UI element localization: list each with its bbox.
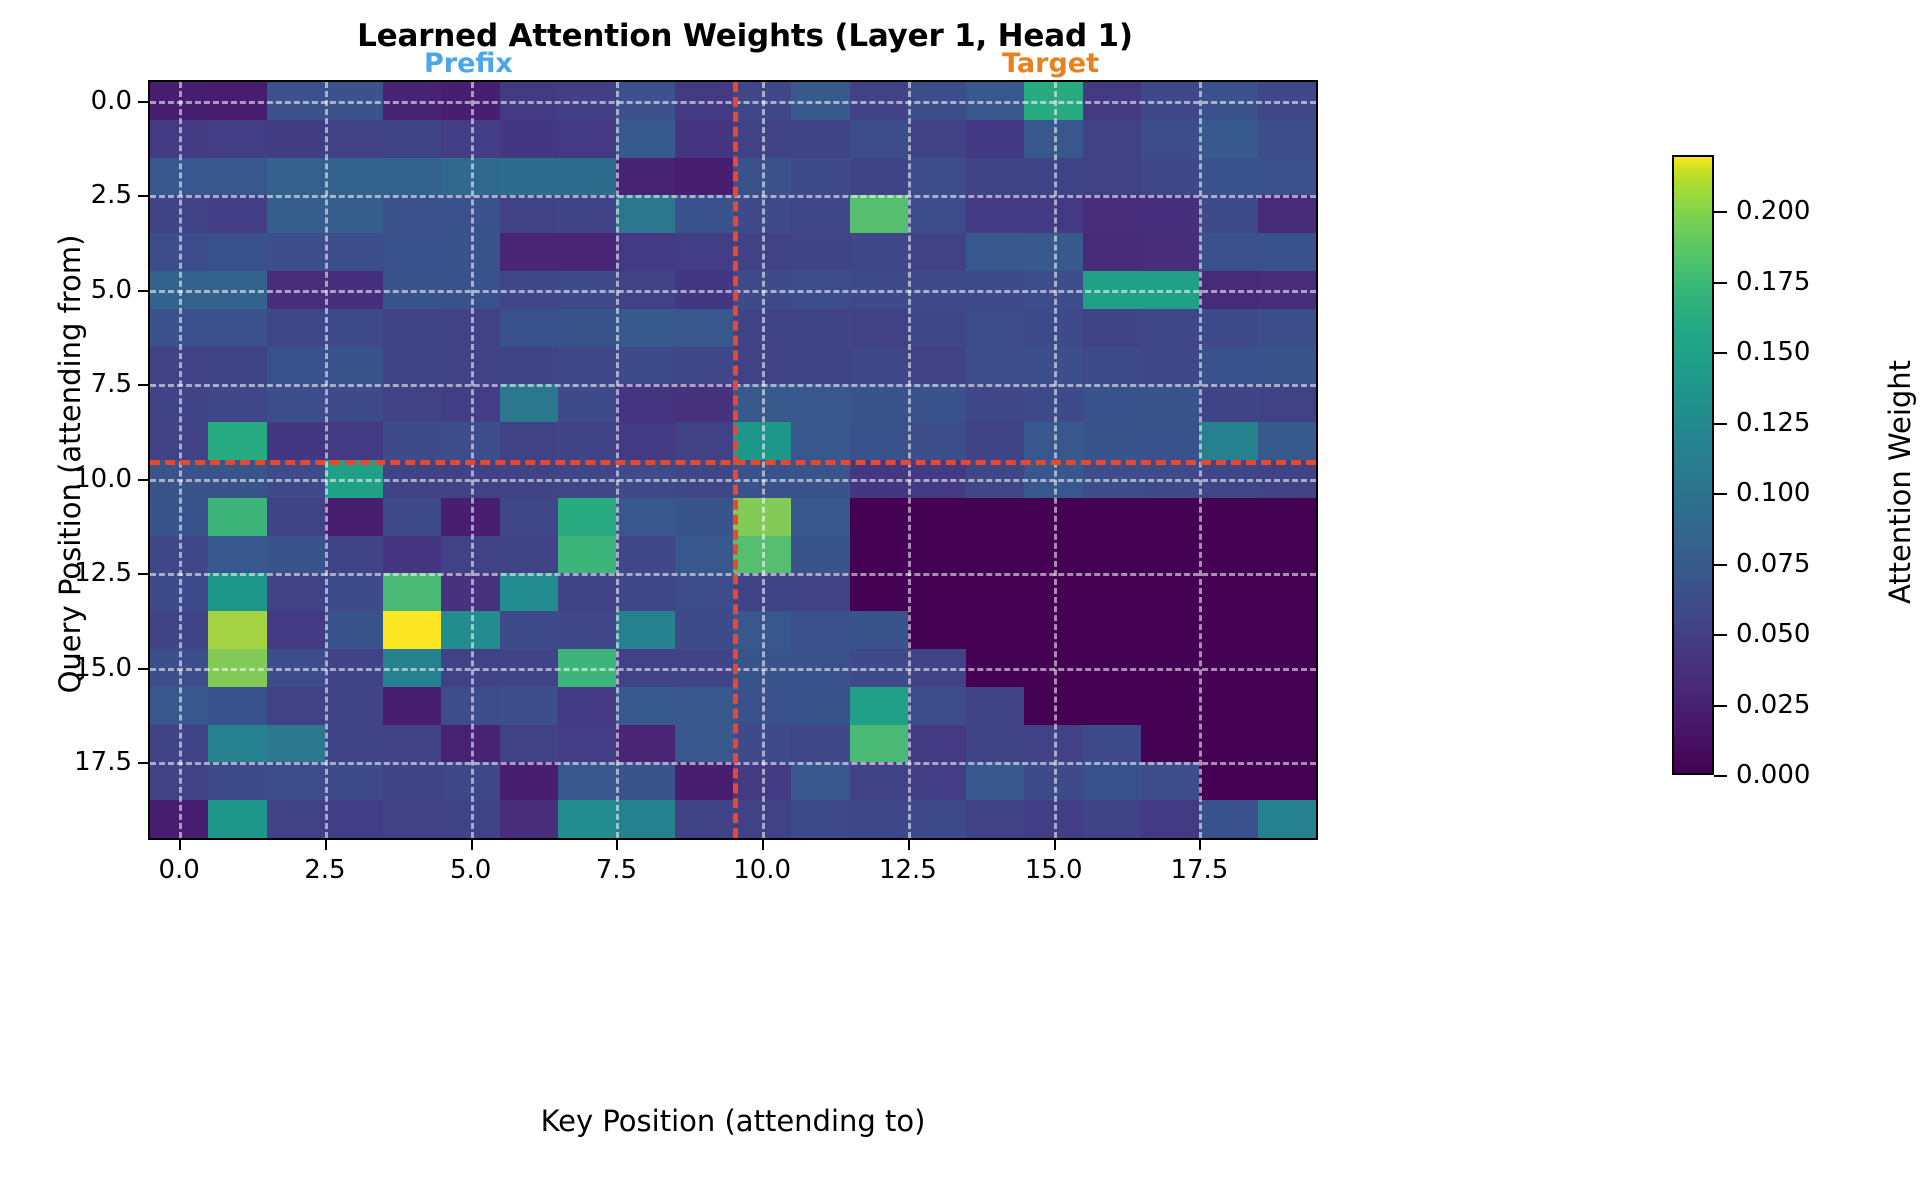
heatmap-cell <box>616 460 674 498</box>
heatmap-cell <box>850 460 908 498</box>
heatmap-cell <box>1199 762 1257 800</box>
heatmap-cell <box>500 422 558 460</box>
heatmap-cell <box>150 384 208 422</box>
heatmap-cell <box>1083 611 1141 649</box>
heatmap-cell <box>850 800 908 838</box>
heatmap-cell <box>616 195 674 233</box>
heatmap-cell <box>441 309 499 347</box>
heatmap-cell <box>616 611 674 649</box>
heatmap-cell <box>267 725 325 763</box>
heatmap-cell <box>850 309 908 347</box>
heatmap-cell <box>1258 611 1316 649</box>
heatmap-cell <box>733 422 791 460</box>
heatmap-cell <box>558 309 616 347</box>
heatmap-cell <box>966 384 1024 422</box>
heatmap-cell <box>733 536 791 574</box>
heatmap-cell <box>1024 687 1082 725</box>
heatmap-cell <box>616 649 674 687</box>
colorbar-tick-label: 0.200 <box>1736 196 1810 226</box>
heatmap-cell <box>1083 460 1141 498</box>
heatmap-cell <box>1083 498 1141 536</box>
heatmap-cell <box>1083 649 1141 687</box>
heatmap-cell <box>150 120 208 158</box>
heatmap-cell <box>150 158 208 196</box>
heatmap-cell <box>850 347 908 385</box>
x-tick-label: 2.5 <box>304 855 345 885</box>
colorbar-tick-mark <box>1714 352 1727 354</box>
heatmap-cell <box>908 498 966 536</box>
heatmap-cell <box>150 309 208 347</box>
heatmap-cell <box>616 120 674 158</box>
target-region-label: Target <box>1002 48 1099 79</box>
heatmap-cell <box>150 611 208 649</box>
heatmap-cell <box>208 725 266 763</box>
heatmap-cell <box>791 347 849 385</box>
heatmap-cell <box>500 762 558 800</box>
heatmap-cell <box>1141 536 1199 574</box>
heatmap-cell <box>616 762 674 800</box>
heatmap-cell <box>1258 573 1316 611</box>
heatmap-cell <box>966 158 1024 196</box>
heatmap-cell <box>675 762 733 800</box>
heatmap-cell <box>441 120 499 158</box>
heatmap-cell <box>267 309 325 347</box>
heatmap-cell <box>733 725 791 763</box>
heatmap-cell <box>267 498 325 536</box>
heatmap-cell <box>558 649 616 687</box>
heatmap-cell <box>908 800 966 838</box>
heatmap-cell <box>675 309 733 347</box>
heatmap-cell <box>1199 460 1257 498</box>
heatmap-cell <box>267 271 325 309</box>
x-tick-label: 12.5 <box>879 855 937 885</box>
y-tick-mark <box>138 290 148 292</box>
y-tick-mark <box>138 101 148 103</box>
heatmap-cell <box>733 158 791 196</box>
heatmap-cell <box>850 384 908 422</box>
heatmap-cell <box>1024 762 1082 800</box>
heatmap-cell <box>383 687 441 725</box>
heatmap-cell <box>791 271 849 309</box>
heatmap-cell <box>500 158 558 196</box>
heatmap-cell <box>791 611 849 649</box>
heatmap-cell <box>150 536 208 574</box>
heatmap-cell <box>150 422 208 460</box>
heatmap-cell <box>208 309 266 347</box>
heatmap-cell <box>441 82 499 120</box>
heatmap-cell <box>150 460 208 498</box>
heatmap-cell <box>1024 800 1082 838</box>
heatmap-cell <box>1199 347 1257 385</box>
heatmap-cell <box>1199 158 1257 196</box>
heatmap-cell <box>500 649 558 687</box>
heatmap-cell <box>558 498 616 536</box>
heatmap-cell <box>1024 725 1082 763</box>
heatmap-cell <box>500 347 558 385</box>
heatmap-cell <box>1141 384 1199 422</box>
heatmap-cell <box>441 384 499 422</box>
heatmap-cell <box>1199 120 1257 158</box>
heatmap-cell <box>966 800 1024 838</box>
heatmap-cell <box>208 800 266 838</box>
heatmap-cell <box>733 347 791 385</box>
heatmap-cell <box>1141 271 1199 309</box>
heatmap-cell <box>558 271 616 309</box>
colorbar-tick-label: 0.175 <box>1736 267 1810 297</box>
heatmap-cell <box>325 347 383 385</box>
heatmap-cell <box>850 573 908 611</box>
heatmap-cell <box>441 762 499 800</box>
heatmap-cell <box>675 422 733 460</box>
heatmap-cell <box>325 762 383 800</box>
heatmap-cell <box>1199 800 1257 838</box>
heatmap-cell <box>441 649 499 687</box>
heatmap-cell <box>208 384 266 422</box>
heatmap-cell <box>791 573 849 611</box>
heatmap-cell <box>208 158 266 196</box>
heatmap-cell <box>675 498 733 536</box>
heatmap-cell <box>850 195 908 233</box>
heatmap-cell <box>267 687 325 725</box>
heatmap-cell <box>267 233 325 271</box>
heatmap-cell <box>441 687 499 725</box>
heatmap-cell <box>791 498 849 536</box>
heatmap-cell <box>908 309 966 347</box>
heatmap-cell <box>1083 271 1141 309</box>
heatmap-cell <box>1258 158 1316 196</box>
heatmap-cell <box>1258 800 1316 838</box>
heatmap-cell <box>208 82 266 120</box>
heatmap-cell <box>383 195 441 233</box>
heatmap-cell <box>558 233 616 271</box>
heatmap-cell <box>208 649 266 687</box>
heatmap-cell <box>325 611 383 649</box>
heatmap-cell <box>1083 800 1141 838</box>
heatmap-cell <box>1141 158 1199 196</box>
heatmap-cell <box>908 347 966 385</box>
heatmap-cell <box>441 347 499 385</box>
heatmap-cell <box>1141 195 1199 233</box>
heatmap-cell <box>1258 725 1316 763</box>
heatmap-cell <box>208 460 266 498</box>
heatmap-cell <box>558 573 616 611</box>
heatmap-cell <box>616 725 674 763</box>
heatmap-cell <box>616 498 674 536</box>
heatmap-cell <box>1083 233 1141 271</box>
heatmap-cell <box>1083 573 1141 611</box>
y-tick-label: 7.5 <box>91 369 132 399</box>
heatmap-cell <box>733 687 791 725</box>
colorbar-tick-mark <box>1714 423 1727 425</box>
heatmap-cell <box>850 611 908 649</box>
heatmap-cell <box>500 498 558 536</box>
heatmap-cell <box>791 800 849 838</box>
heatmap-cell <box>150 498 208 536</box>
heatmap-cell <box>675 384 733 422</box>
heatmap-cell <box>1141 233 1199 271</box>
heatmap-cell <box>1083 158 1141 196</box>
heatmap-cell <box>966 573 1024 611</box>
heatmap-cell <box>150 762 208 800</box>
heatmap-cell <box>500 460 558 498</box>
heatmap-cell <box>441 800 499 838</box>
heatmap-cell <box>850 422 908 460</box>
heatmap-cell <box>383 460 441 498</box>
heatmap-cell <box>1258 120 1316 158</box>
heatmap-cell <box>558 611 616 649</box>
heatmap-cell <box>1083 120 1141 158</box>
heatmap-cell <box>966 460 1024 498</box>
heatmap-cell <box>675 120 733 158</box>
heatmap-cell <box>733 460 791 498</box>
heatmap-cell <box>441 498 499 536</box>
heatmap-cell <box>1199 536 1257 574</box>
heatmap-cell <box>1024 195 1082 233</box>
heatmap-cell <box>500 687 558 725</box>
heatmap-cell <box>1141 460 1199 498</box>
heatmap-cell <box>558 120 616 158</box>
heatmap-cell <box>1083 195 1141 233</box>
heatmap-cell <box>208 536 266 574</box>
heatmap-cell <box>908 649 966 687</box>
heatmap-cell <box>908 611 966 649</box>
heatmap-cell <box>733 762 791 800</box>
x-tick-mark <box>471 840 473 850</box>
heatmap-cell <box>1258 347 1316 385</box>
heatmap-cell <box>908 384 966 422</box>
heatmap-cell <box>908 120 966 158</box>
heatmap-cells <box>150 82 1316 838</box>
heatmap-cell <box>441 271 499 309</box>
heatmap-cell <box>267 422 325 460</box>
heatmap-cell <box>383 347 441 385</box>
heatmap-cell <box>675 536 733 574</box>
heatmap-cell <box>733 82 791 120</box>
heatmap-cell <box>791 195 849 233</box>
heatmap-cell <box>1258 82 1316 120</box>
heatmap-cell <box>325 800 383 838</box>
heatmap-cell <box>1258 384 1316 422</box>
heatmap-cell <box>1199 649 1257 687</box>
heatmap-cell <box>1024 233 1082 271</box>
heatmap-cell <box>1083 536 1141 574</box>
y-tick-label: 2.5 <box>91 180 132 210</box>
y-tick-mark <box>138 195 148 197</box>
colorbar-tick-mark <box>1714 493 1727 495</box>
heatmap-cell <box>675 611 733 649</box>
heatmap-cell <box>267 573 325 611</box>
figure-canvas: Learned Attention Weights (Layer 1, Head… <box>0 0 1920 1196</box>
heatmap-cell <box>383 725 441 763</box>
heatmap-cell <box>150 573 208 611</box>
heatmap-cell <box>1141 762 1199 800</box>
heatmap-cell <box>1199 309 1257 347</box>
heatmap-cell <box>616 800 674 838</box>
heatmap-cell <box>267 347 325 385</box>
heatmap-cell <box>500 195 558 233</box>
heatmap-cell <box>500 309 558 347</box>
heatmap-cell <box>1024 498 1082 536</box>
heatmap-cell <box>441 573 499 611</box>
heatmap-cell <box>500 725 558 763</box>
heatmap-cell <box>616 271 674 309</box>
heatmap-cell <box>850 158 908 196</box>
heatmap-cell <box>1258 309 1316 347</box>
heatmap-cell <box>325 158 383 196</box>
heatmap-cell <box>208 347 266 385</box>
heatmap-cell <box>1024 649 1082 687</box>
prefix-region-label: Prefix <box>424 48 513 79</box>
colorbar-tick-label: 0.000 <box>1736 760 1810 790</box>
colorbar <box>1672 155 1714 775</box>
heatmap-cell <box>791 762 849 800</box>
heatmap-cell <box>267 82 325 120</box>
heatmap-cell <box>908 195 966 233</box>
heatmap-cell <box>500 120 558 158</box>
heatmap-cell <box>908 573 966 611</box>
heatmap-cell <box>966 82 1024 120</box>
heatmap-cell <box>850 649 908 687</box>
heatmap-cell <box>616 687 674 725</box>
heatmap-cell <box>1024 384 1082 422</box>
heatmap-cell <box>267 800 325 838</box>
x-tick-mark <box>616 840 618 850</box>
heatmap-cell <box>150 195 208 233</box>
heatmap-cell <box>325 233 383 271</box>
heatmap-cell <box>1083 422 1141 460</box>
heatmap-cell <box>1024 309 1082 347</box>
x-tick-label: 15.0 <box>1025 855 1083 885</box>
heatmap-cell <box>733 800 791 838</box>
heatmap-cell <box>1258 687 1316 725</box>
heatmap-cell <box>441 536 499 574</box>
heatmap-cell <box>733 649 791 687</box>
heatmap-cell <box>675 233 733 271</box>
heatmap-cell <box>791 158 849 196</box>
heatmap-cell <box>791 233 849 271</box>
heatmap-cell <box>1199 384 1257 422</box>
heatmap-cell <box>675 158 733 196</box>
heatmap-cell <box>850 536 908 574</box>
heatmap-cell <box>558 158 616 196</box>
heatmap-cell <box>1199 573 1257 611</box>
heatmap-cell <box>208 762 266 800</box>
heatmap-cell <box>791 422 849 460</box>
heatmap-cell <box>675 649 733 687</box>
heatmap-cell <box>150 725 208 763</box>
heatmap-cell <box>383 82 441 120</box>
heatmap-cell <box>908 687 966 725</box>
heatmap-cell <box>383 271 441 309</box>
heatmap-cell <box>733 384 791 422</box>
heatmap-cell <box>383 158 441 196</box>
heatmap-cell <box>325 536 383 574</box>
x-tick-mark <box>1054 840 1056 850</box>
heatmap-cell <box>1199 82 1257 120</box>
heatmap-cell <box>500 271 558 309</box>
heatmap-cell <box>1141 611 1199 649</box>
heatmap-cell <box>908 725 966 763</box>
heatmap-cell <box>1024 120 1082 158</box>
heatmap-cell <box>208 573 266 611</box>
heatmap-cell <box>267 460 325 498</box>
heatmap-cell <box>558 725 616 763</box>
heatmap-cell <box>325 573 383 611</box>
y-tick-label: 5.0 <box>91 275 132 305</box>
heatmap-cell <box>1199 611 1257 649</box>
heatmap-cell <box>558 762 616 800</box>
heatmap-cell <box>1024 536 1082 574</box>
heatmap-cell <box>966 611 1024 649</box>
y-tick-label: 0.0 <box>91 86 132 116</box>
heatmap-cell <box>383 498 441 536</box>
heatmap-cell <box>966 347 1024 385</box>
heatmap-cell <box>267 762 325 800</box>
heatmap-cell <box>383 762 441 800</box>
heatmap-cell <box>325 271 383 309</box>
heatmap-cell <box>1083 762 1141 800</box>
heatmap-cell <box>1083 347 1141 385</box>
colorbar-tick-label: 0.150 <box>1736 337 1810 367</box>
heatmap-cell <box>1199 422 1257 460</box>
heatmap-cell <box>1258 536 1316 574</box>
x-tick-label: 0.0 <box>158 855 199 885</box>
heatmap-cell <box>616 422 674 460</box>
y-tick-mark <box>138 573 148 575</box>
heatmap-cell <box>908 762 966 800</box>
heatmap-cell <box>1258 762 1316 800</box>
heatmap-cell <box>675 271 733 309</box>
heatmap-cell <box>441 158 499 196</box>
heatmap-cell <box>616 347 674 385</box>
heatmap-cell <box>733 309 791 347</box>
heatmap-cell <box>1083 309 1141 347</box>
heatmap-cell <box>908 271 966 309</box>
heatmap-cell <box>267 649 325 687</box>
heatmap-cell <box>500 800 558 838</box>
heatmap-cell <box>675 573 733 611</box>
colorbar-tick-label: 0.125 <box>1736 408 1810 438</box>
heatmap-cell <box>267 384 325 422</box>
x-tick-label: 10.0 <box>733 855 791 885</box>
heatmap-cell <box>1199 195 1257 233</box>
heatmap-cell <box>733 195 791 233</box>
heatmap-cell <box>208 611 266 649</box>
heatmap-cell <box>733 233 791 271</box>
heatmap-cell <box>1141 800 1199 838</box>
heatmap-cell <box>966 762 1024 800</box>
heatmap-cell <box>1199 687 1257 725</box>
heatmap-cell <box>908 233 966 271</box>
heatmap-cell <box>1083 725 1141 763</box>
colorbar-tick-mark <box>1714 634 1727 636</box>
heatmap-cell <box>150 649 208 687</box>
heatmap-cell <box>500 611 558 649</box>
heatmap-cell <box>791 309 849 347</box>
heatmap-cell <box>966 271 1024 309</box>
heatmap-cell <box>1258 271 1316 309</box>
heatmap-cell <box>383 573 441 611</box>
heatmap-cell <box>1024 422 1082 460</box>
heatmap-cell <box>616 384 674 422</box>
heatmap-cell <box>675 347 733 385</box>
heatmap-cell <box>267 158 325 196</box>
heatmap-cell <box>791 460 849 498</box>
heatmap-cell <box>733 573 791 611</box>
colorbar-tick-mark <box>1714 705 1727 707</box>
heatmap-cell <box>325 82 383 120</box>
heatmap-cell <box>733 611 791 649</box>
